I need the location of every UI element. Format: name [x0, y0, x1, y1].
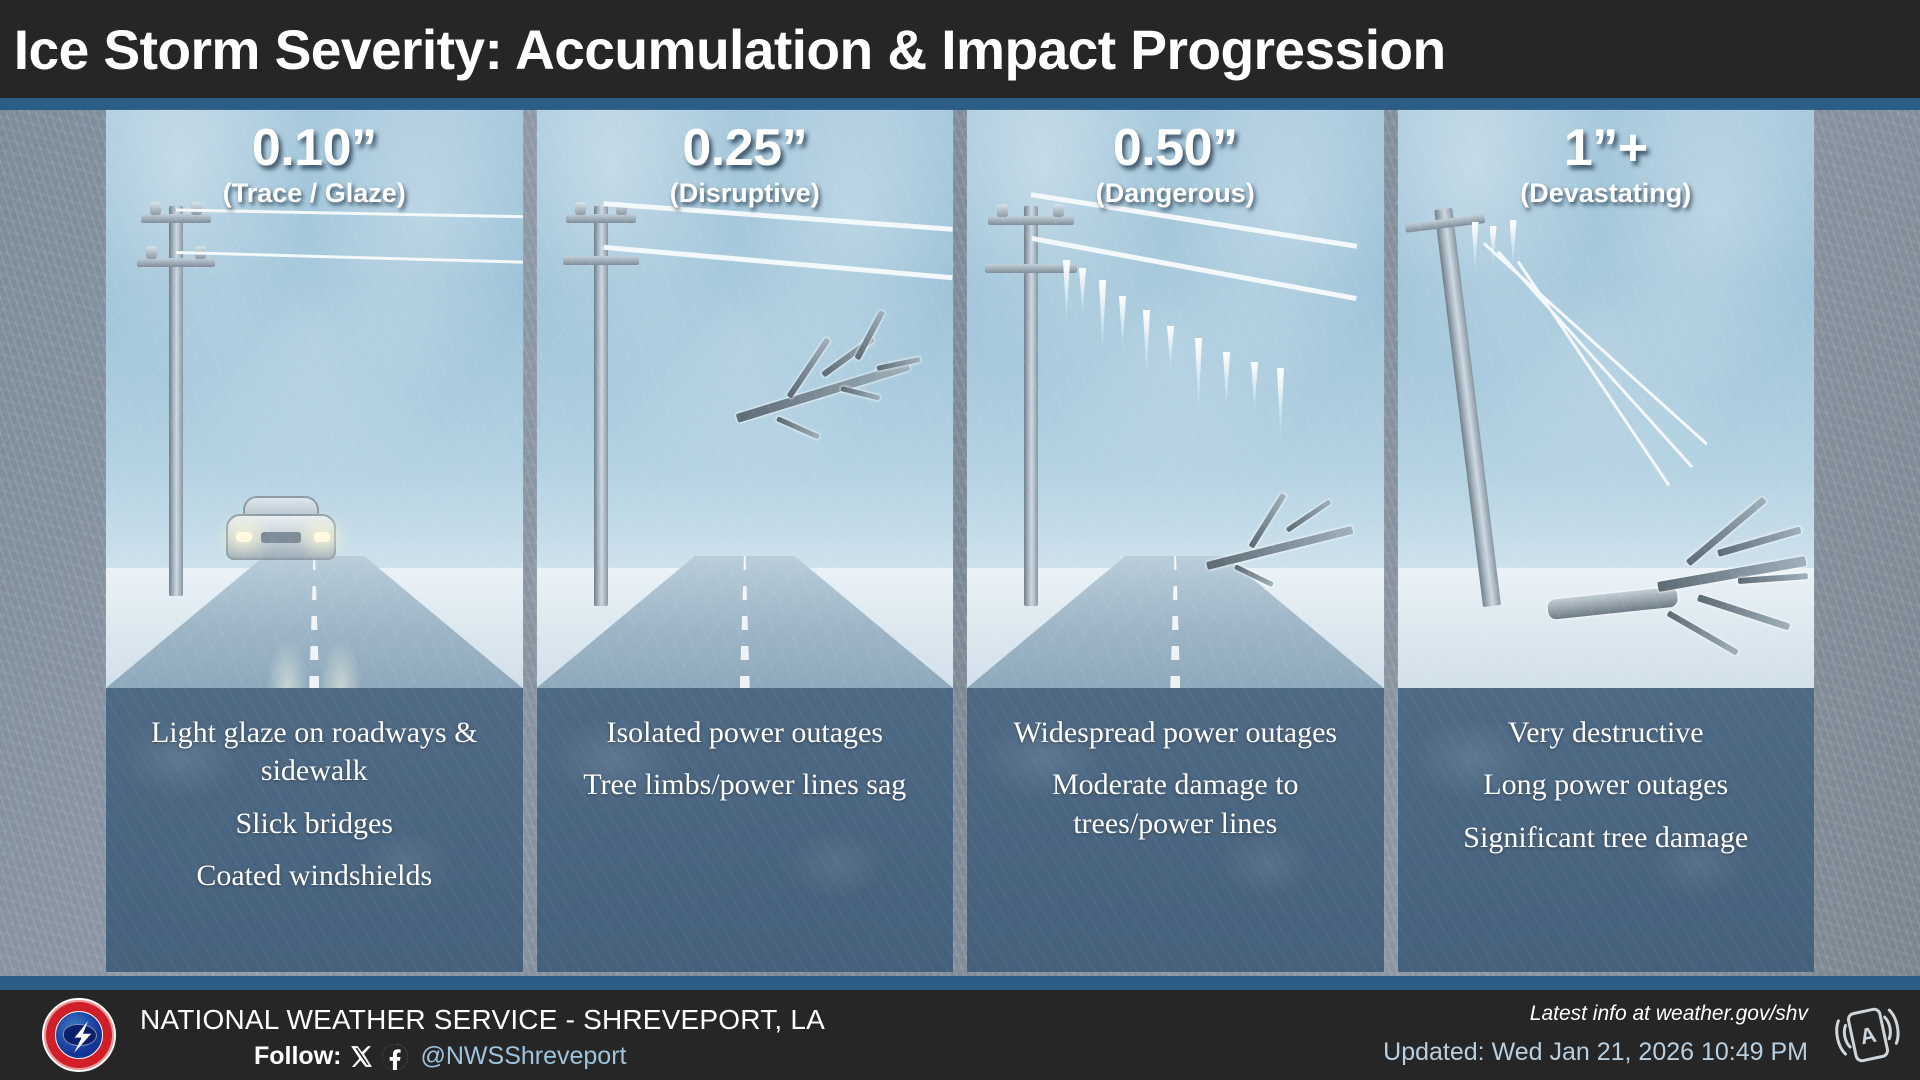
follow-row: Follow: @NWSShreveport: [254, 1042, 626, 1071]
severity-panel-1[interactable]: 0.10” (Trace / Glaze) Light glaze on roa…: [106, 110, 523, 972]
impact-item: Slick bridges: [236, 805, 394, 843]
follow-label: Follow:: [254, 1042, 341, 1071]
severity-panel-2[interactable]: 0.25” (Disruptive) Isolated power outage…: [537, 110, 954, 972]
utility-pole-icon: [571, 206, 631, 606]
impact-item: Significant tree damage: [1463, 819, 1748, 857]
fallen-tree-icon: [1548, 490, 1808, 660]
impact-caption-1: Light glaze on roadways & sidewalk Slick…: [106, 688, 523, 972]
impact-item: Light glaze on roadways & sidewalk: [130, 714, 499, 791]
severity-label: (Dangerous): [967, 178, 1384, 209]
footer-bar: NATIONAL WEATHER SERVICE - SHREVEPORT, L…: [0, 990, 1920, 1080]
leaning-utility-pole-icon: [1413, 205, 1521, 609]
accumulation-amount: 0.50”: [967, 118, 1384, 178]
accumulation-amount: 0.10”: [106, 118, 523, 178]
car-icon: [226, 496, 340, 566]
impact-caption-2: Isolated power outages Tree limbs/power …: [537, 688, 954, 972]
severity-label: (Devastating): [1398, 178, 1815, 209]
latest-info-text: Latest info at weather.gov/shv: [1530, 1002, 1808, 1026]
x-icon[interactable]: [349, 1044, 374, 1069]
accumulation-amount: 0.25”: [537, 118, 954, 178]
broken-tree-limb-icon: [1207, 500, 1384, 610]
iced-tree-limb-icon: [737, 320, 947, 460]
svg-text:A: A: [1858, 1022, 1879, 1050]
impact-item: Isolated power outages: [606, 714, 883, 752]
impact-item: Widespread power outages: [1013, 714, 1337, 752]
impact-item: Long power outages: [1483, 766, 1728, 804]
accumulation-amount: 1”+: [1398, 118, 1815, 178]
downed-power-line: [1516, 261, 1669, 487]
title-accent-rule: [0, 98, 1920, 110]
impact-caption-3: Widespread power outages Moderate damage…: [967, 688, 1384, 972]
impact-item: Coated windshields: [196, 857, 432, 895]
updated-timestamp: Updated: Wed Jan 21, 2026 10:49 PM: [1383, 1038, 1808, 1067]
utility-pole-icon: [1001, 206, 1061, 606]
severity-label: (Disruptive): [537, 178, 954, 209]
impact-item: Very destructive: [1508, 714, 1704, 752]
footer-accent-rule: [0, 976, 1920, 990]
severity-panel-3[interactable]: 0.50” (Dangerous) Widespread power outag…: [967, 110, 1384, 972]
impact-item: Tree limbs/power lines sag: [583, 766, 906, 804]
title-bar: Ice Storm Severity: Accumulation & Impac…: [0, 0, 1920, 98]
severity-panels: 0.10” (Trace / Glaze) Light glaze on roa…: [106, 110, 1814, 972]
office-name: NATIONAL WEATHER SERVICE - SHREVEPORT, L…: [140, 1004, 825, 1036]
power-line: [176, 251, 522, 264]
page-title: Ice Storm Severity: Accumulation & Impac…: [0, 17, 1446, 82]
impact-caption-4: Very destructive Long power outages Sign…: [1398, 688, 1815, 972]
social-handle[interactable]: @NWSShreveport: [420, 1042, 626, 1071]
downed-power-line: [1496, 250, 1692, 468]
utility-pole-icon: [146, 206, 206, 596]
severity-label: (Trace / Glaze): [106, 178, 523, 209]
nws-logo: [42, 998, 116, 1072]
sagging-power-line: [603, 245, 952, 280]
infographic-root: Ice Storm Severity: Accumulation & Impac…: [0, 0, 1920, 1080]
wireless-emergency-alert-icon: A: [1832, 999, 1904, 1071]
facebook-icon[interactable]: [382, 1044, 408, 1070]
severity-panel-4[interactable]: 1”+ (Devastating) Very destructive Long …: [1398, 110, 1815, 972]
impact-item: Moderate damage to trees/power lines: [991, 766, 1360, 843]
power-line: [176, 209, 522, 219]
